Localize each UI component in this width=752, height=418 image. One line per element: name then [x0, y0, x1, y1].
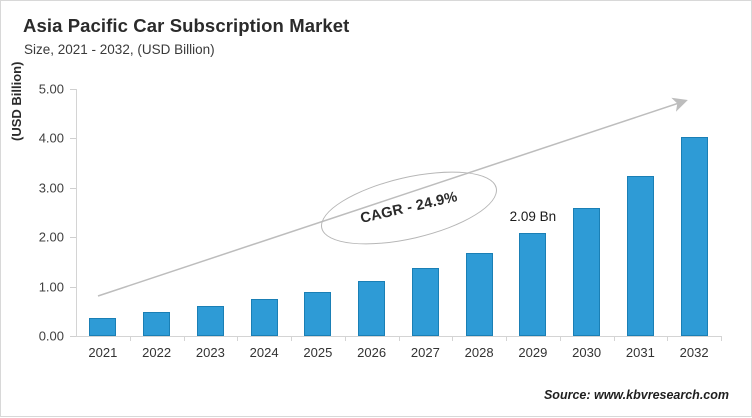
x-tick-label-2022: 2022	[127, 345, 187, 360]
bar-2029[interactable]	[519, 233, 546, 336]
bar-2023[interactable]	[197, 306, 224, 336]
bar-2022[interactable]	[143, 312, 170, 336]
bar-2025[interactable]	[304, 292, 331, 336]
y-tick	[70, 336, 76, 337]
chart-canvas: Asia Pacific Car Subscription Market Siz…	[0, 0, 752, 417]
chart-subtitle: Size, 2021 - 2032, (USD Billion)	[24, 42, 215, 57]
y-tick-label: 5.00	[39, 82, 64, 97]
y-axis-title: (USD Billion)	[9, 62, 24, 141]
y-tick	[70, 237, 76, 238]
y-tick-label: 4.00	[39, 131, 64, 146]
y-tick-label: 1.00	[39, 279, 64, 294]
chart-title: Asia Pacific Car Subscription Market	[23, 15, 349, 37]
bar-2030[interactable]	[573, 208, 600, 336]
x-tick	[345, 336, 346, 341]
y-tick-label: 2.00	[39, 230, 64, 245]
y-tick	[70, 138, 76, 139]
bar-2021[interactable]	[89, 318, 116, 336]
x-tick-label-2027: 2027	[395, 345, 455, 360]
bar-2027[interactable]	[412, 268, 439, 336]
x-tick	[560, 336, 561, 341]
y-tick	[70, 287, 76, 288]
value-label-2029: 2.09 Bn	[510, 209, 557, 224]
x-tick-label-2021: 2021	[73, 345, 133, 360]
x-tick-label-2029: 2029	[503, 345, 563, 360]
x-tick	[184, 336, 185, 341]
bar-2032[interactable]	[681, 137, 708, 336]
bar-2031[interactable]	[627, 176, 654, 336]
x-tick-label-2025: 2025	[288, 345, 348, 360]
y-tick-label: 3.00	[39, 180, 64, 195]
x-tick	[399, 336, 400, 341]
y-tick	[70, 188, 76, 189]
x-tick-label-2026: 2026	[342, 345, 402, 360]
x-tick	[291, 336, 292, 341]
y-tick-label: 0.00	[39, 329, 64, 344]
y-tick	[70, 89, 76, 90]
x-tick-label-2028: 2028	[449, 345, 509, 360]
bar-2026[interactable]	[358, 281, 385, 336]
y-axis-line	[76, 89, 77, 337]
bar-2028[interactable]	[466, 253, 493, 336]
x-tick-label-2032: 2032	[664, 345, 724, 360]
x-tick-label-2024: 2024	[234, 345, 294, 360]
x-tick	[452, 336, 453, 341]
x-tick	[614, 336, 615, 341]
x-tick-label-2030: 2030	[557, 345, 617, 360]
x-tick	[130, 336, 131, 341]
source-attribution: Source: www.kbvresearch.com	[544, 388, 729, 402]
x-tick	[237, 336, 238, 341]
x-tick-label-2031: 2031	[610, 345, 670, 360]
plot-area: 0.001.002.003.004.005.00 202120222023202…	[76, 89, 721, 337]
x-tick	[667, 336, 668, 341]
x-tick	[721, 336, 722, 341]
x-tick	[506, 336, 507, 341]
x-tick-label-2023: 2023	[180, 345, 240, 360]
bar-2024[interactable]	[251, 299, 278, 336]
